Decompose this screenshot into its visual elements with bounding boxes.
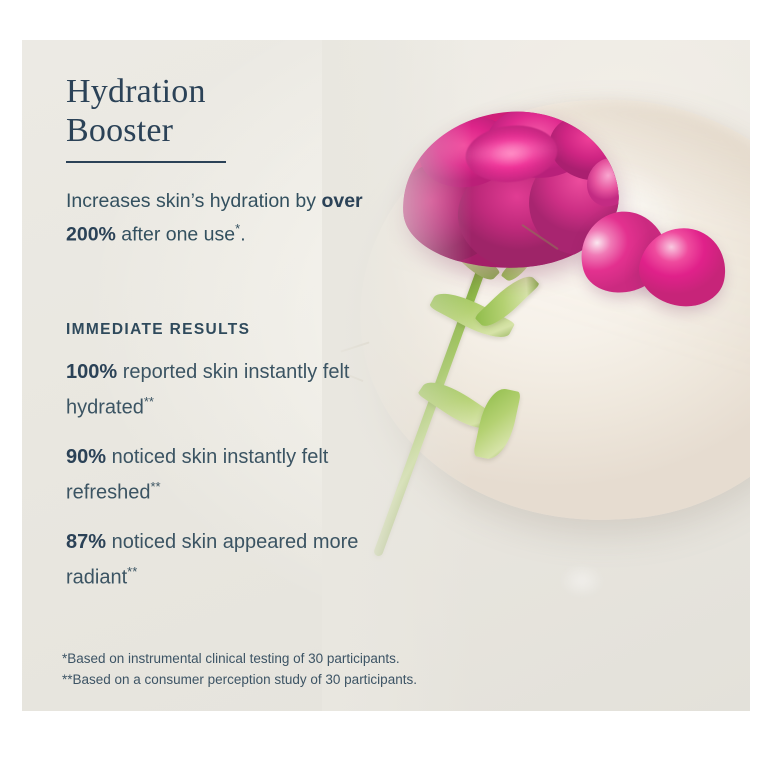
stat-item: 100% reported skin instantly felt hydrat… <box>66 358 396 423</box>
stat-value: 87% <box>66 531 106 553</box>
section-label-immediate-results: IMMEDIATE RESULTS <box>66 321 250 339</box>
subtitle-text-tail: after one use <box>116 224 235 246</box>
footnote-line: *Based on instrumental clinical testing … <box>62 648 417 669</box>
stat-description: noticed skin instantly felt refreshed <box>66 446 328 504</box>
footnotes: *Based on instrumental clinical testing … <box>62 648 417 690</box>
stat-description: noticed skin appeared more radiant <box>66 531 358 589</box>
stat-footnote-marker: ** <box>144 394 154 409</box>
screenshot-canvas: Hydration Booster Increases skin’s hydra… <box>0 0 762 762</box>
product-info-card: Hydration Booster Increases skin’s hydra… <box>22 40 750 711</box>
stat-item: 90% noticed skin instantly felt refreshe… <box>66 443 396 508</box>
stat-value: 100% <box>66 361 117 383</box>
stat-footnote-marker: ** <box>127 564 137 579</box>
text-column: Hydration Booster Increases skin’s hydra… <box>22 40 382 711</box>
page-title-line-1: Hydration <box>66 73 206 110</box>
stat-value: 90% <box>66 446 106 468</box>
page-title-line-2: Booster <box>66 112 173 149</box>
surface-droplet <box>552 560 612 606</box>
page-title: Hydration Booster <box>66 72 366 150</box>
title-divider <box>66 161 226 163</box>
stat-footnote-marker: ** <box>151 479 161 494</box>
subtitle-text-lead: Increases skin’s hydration by <box>66 190 321 212</box>
subtitle-period: . <box>240 224 245 246</box>
subtitle: Increases skin’s hydration by over 200% … <box>66 188 386 249</box>
stat-item: 87% noticed skin appeared more radiant** <box>66 528 396 593</box>
footnote-line: **Based on a consumer perception study o… <box>62 669 417 690</box>
